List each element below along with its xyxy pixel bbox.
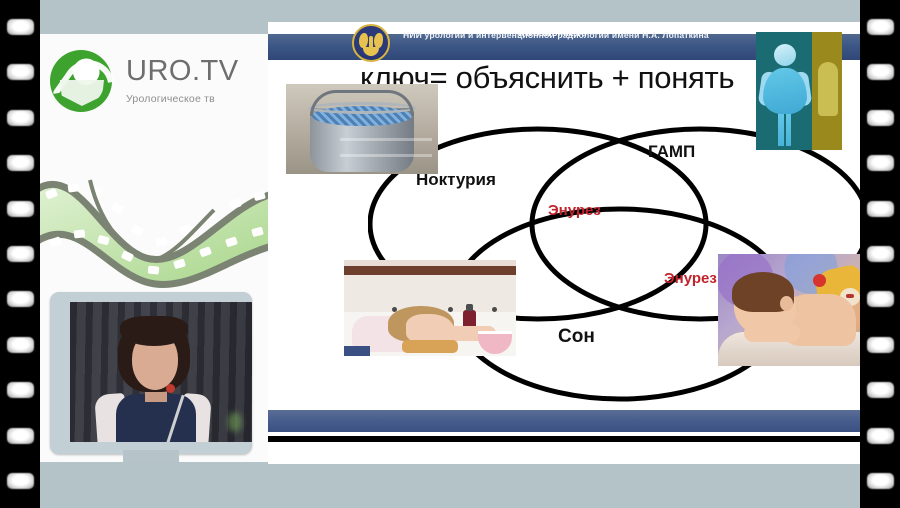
film-sprocket-icon — [7, 64, 34, 80]
film-sprocket-icon — [867, 428, 894, 444]
film-sprocket-icon — [867, 155, 894, 171]
video-player-stage: URO.TV Урологическое тв — [0, 0, 900, 508]
girl-asleep-at-table-photo — [344, 260, 516, 356]
film-sprocket-icon — [7, 110, 34, 126]
stage-light-glow — [228, 412, 242, 432]
presentation-slide-area[interactable]: НИИ урологии и интервенционной радиологи… — [268, 22, 868, 464]
film-sprocket-icon — [867, 19, 894, 35]
logo-swirl-shape — [51, 50, 125, 124]
figure-body — [763, 68, 807, 114]
film-sprocket-icon — [7, 382, 34, 398]
slide-bottom-black-bar — [268, 436, 868, 442]
emblem-bowl-shape — [363, 47, 379, 56]
bucket-band-2 — [340, 154, 432, 157]
logo-text-block: URO.TV Урологическое тв — [126, 57, 239, 105]
film-sprocket-icon — [867, 382, 894, 398]
speaker-video-thumbnail[interactable] — [70, 302, 252, 442]
speaker-monitor — [40, 292, 262, 462]
film-frame-right — [860, 0, 900, 508]
kidney-left-shape — [359, 33, 368, 48]
kidney-right-shape — [374, 33, 383, 48]
film-frame-left — [0, 0, 40, 508]
gold-figure-shape — [818, 62, 838, 116]
bucket-handle — [310, 90, 414, 116]
bottom-band — [32, 462, 868, 508]
film-sprocket-icon — [7, 428, 34, 444]
slide-footer-bar — [268, 410, 868, 432]
logo-title: URO.TV — [126, 57, 239, 86]
speaker-fringe — [120, 316, 188, 346]
figure-head — [774, 44, 796, 66]
uro-tv-logo-icon — [50, 50, 112, 112]
film-sprocket-icon — [7, 155, 34, 171]
bucket-of-water-photo — [286, 84, 438, 174]
baby-arm — [744, 324, 800, 342]
person-holding-bladder-icon — [756, 32, 842, 150]
film-sprocket-icon — [867, 473, 894, 489]
film-sprocket-icon — [867, 291, 894, 307]
film-sprocket-icon — [867, 337, 894, 353]
film-sprocket-icon — [7, 246, 34, 262]
venn-overlap-right: Энурез — [664, 270, 717, 287]
toy-nose — [813, 274, 826, 287]
venn-label-sleep: Сон — [558, 326, 595, 348]
logo-subtitle: Урологическое тв — [126, 93, 239, 105]
figure-leg-split — [784, 112, 786, 146]
slide: НИИ урологии и интервенционной радиологи… — [268, 22, 868, 442]
film-sprocket-icon — [7, 19, 34, 35]
venn-overlap-top: Энурез — [548, 202, 601, 219]
bucket-band-1 — [340, 138, 432, 141]
kidney-emblem-icon — [352, 24, 390, 62]
film-sprocket-icon — [867, 64, 894, 80]
sleeping-baby-with-toy-photo — [718, 254, 868, 366]
film-sprocket-icon — [7, 473, 34, 489]
venn-label-gamp: ГАМП — [648, 142, 695, 162]
film-sprocket-icon — [7, 291, 34, 307]
monitor-stand — [123, 450, 179, 462]
branding-panel: URO.TV Урологическое тв — [32, 34, 268, 462]
baby-ear — [780, 296, 793, 311]
photo-edge-strip — [344, 346, 370, 356]
kitchen-shelf — [344, 266, 516, 275]
film-sprocket-icon — [7, 201, 34, 217]
film-sprocket-icon — [7, 337, 34, 353]
content-area: URO.TV Урологическое тв — [32, 0, 868, 508]
film-sprocket-icon — [867, 246, 894, 262]
footer-url: www.uroline.ru — [518, 22, 587, 44]
bread-slice — [402, 340, 458, 353]
uro-tv-logo: URO.TV Урологическое тв — [50, 50, 239, 112]
monitor-frame-icon — [50, 292, 252, 454]
film-strip-icon — [32, 154, 268, 294]
film-sprocket-icon — [867, 110, 894, 126]
microphone-icon — [166, 384, 175, 393]
film-sprocket-icon — [867, 201, 894, 217]
